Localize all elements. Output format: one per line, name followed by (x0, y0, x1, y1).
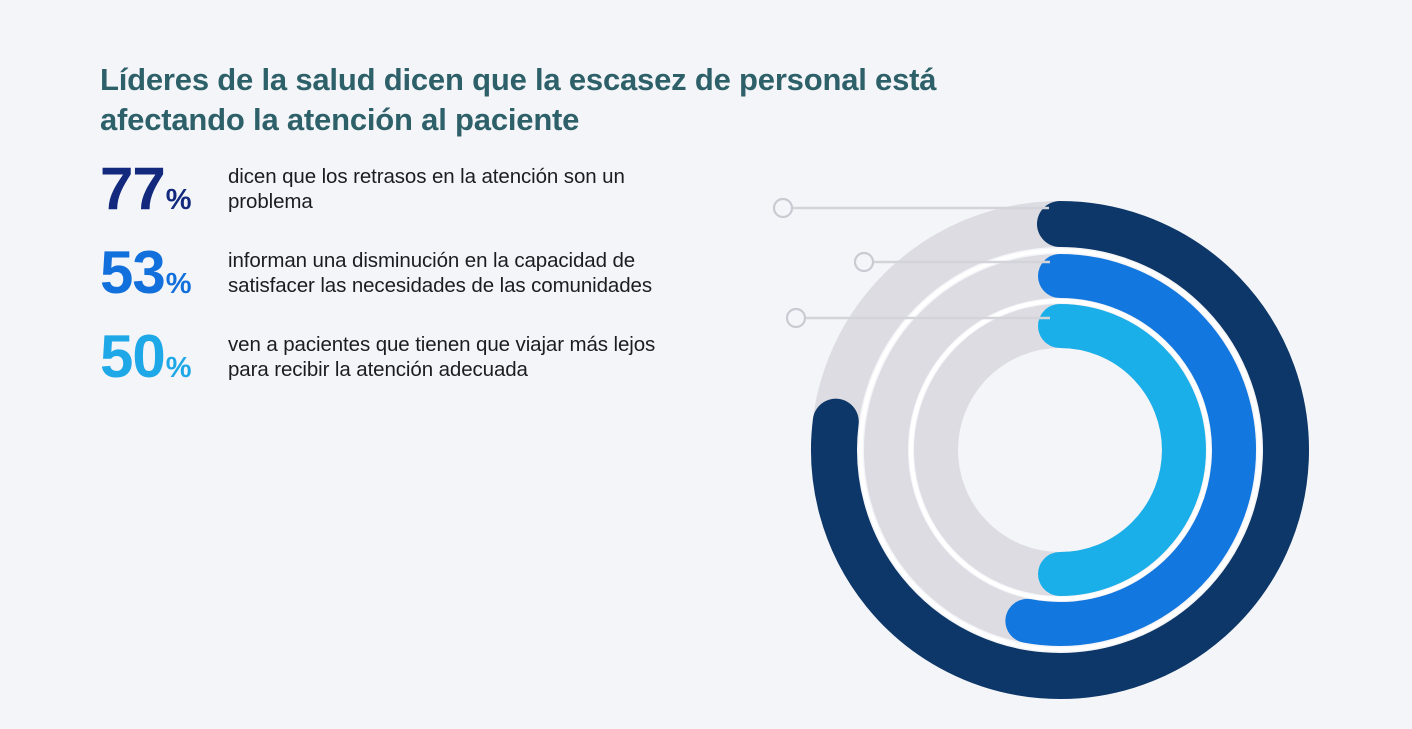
stat-description-53-line-2: satisfacer las necesidades de las comuni… (228, 273, 800, 298)
stat-description-53-line-1: informan una disminución en la capacidad… (228, 248, 800, 273)
page-title: Líderes de la salud dicen que la escasez… (100, 60, 1010, 140)
stat-description-77-line-2: problema (228, 189, 800, 214)
stat-item-53: 53 % informan una disminución en la capa… (100, 242, 800, 326)
stat-value-53: 53 % (100, 242, 228, 313)
infographic-canvas: Líderes de la salud dicen que la escasez… (0, 0, 1412, 729)
donut-chart (760, 150, 1360, 710)
stat-item-77: 77 % dicen que los retrasos en la atenci… (100, 158, 800, 242)
statistics-list: 77 % dicen que los retrasos en la atenci… (100, 158, 800, 410)
stat-description-50-line-2: para recibir la atención adecuada (228, 357, 800, 382)
stat-description-53: informan una disminución en la capacidad… (228, 242, 800, 298)
stat-value-50: 50 % (100, 326, 228, 397)
stat-number-53: 53 (100, 244, 165, 302)
stat-description-77: dicen que los retrasos en la atención so… (228, 158, 800, 214)
stat-item-50: 50 % ven a pacientes que tienen que viaj… (100, 326, 800, 410)
connector-marker-50 (787, 309, 805, 327)
stat-description-50-line-1: ven a pacientes que tienen que viajar má… (228, 332, 800, 357)
stat-value-77: 77 % (100, 158, 228, 229)
stat-number-50: 50 (100, 328, 165, 386)
page-title-line-2: afectando la atención al paciente (100, 100, 1010, 140)
page-title-line-1: Líderes de la salud dicen que la escasez… (100, 60, 1010, 100)
stat-percent-symbol-53: % (166, 255, 192, 313)
connector-marker-53 (855, 253, 873, 271)
stat-percent-symbol-77: % (166, 171, 192, 229)
stat-description-50: ven a pacientes que tienen que viajar má… (228, 326, 800, 382)
donut-chart-svg (760, 150, 1360, 710)
stat-number-77: 77 (100, 160, 165, 218)
stat-description-77-line-1: dicen que los retrasos en la atención so… (228, 164, 800, 189)
donut-center-hole (960, 350, 1160, 550)
connector-marker-77 (774, 199, 792, 217)
stat-percent-symbol-50: % (166, 339, 192, 397)
